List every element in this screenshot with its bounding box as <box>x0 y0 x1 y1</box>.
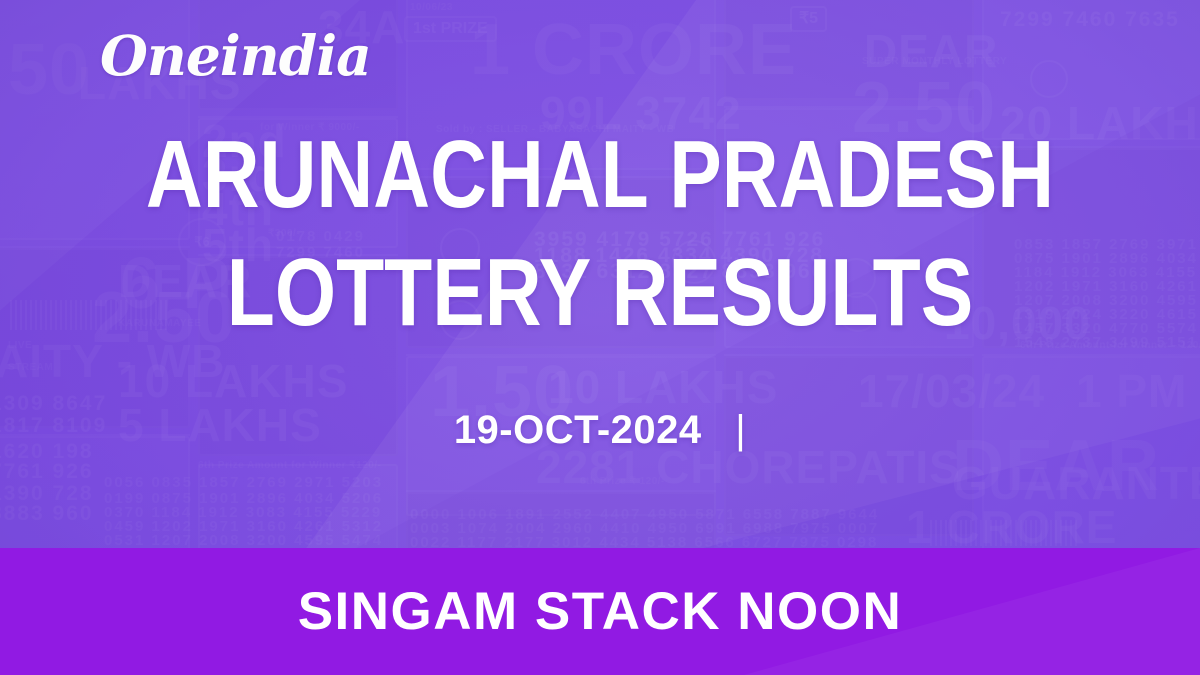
date-separator: | <box>735 408 746 453</box>
hero-content: Oneindia ARUNACHAL PRADESH LOTTERY RESUL… <box>0 0 1200 548</box>
oneindia-logo[interactable]: Oneindia <box>100 28 371 83</box>
headline-line-1: ARUNACHAL PRADESH <box>108 128 1092 222</box>
lottery-result-card: 50LAKHS6 PLIVESTREAMAITY - WBDEAR2.50KAR… <box>0 0 1200 675</box>
result-date-row: 19-OCT-2024 | <box>0 408 1200 453</box>
headline-line-2: LOTTERY RESULTS <box>108 246 1092 340</box>
draw-name-label: SINGAM STACK NOON <box>298 581 903 642</box>
page-title: ARUNACHAL PRADESH LOTTERY RESULTS <box>0 128 1200 340</box>
result-date: 19-OCT-2024 <box>454 408 702 452</box>
draw-name-banner: SINGAM STACK NOON <box>0 548 1200 675</box>
